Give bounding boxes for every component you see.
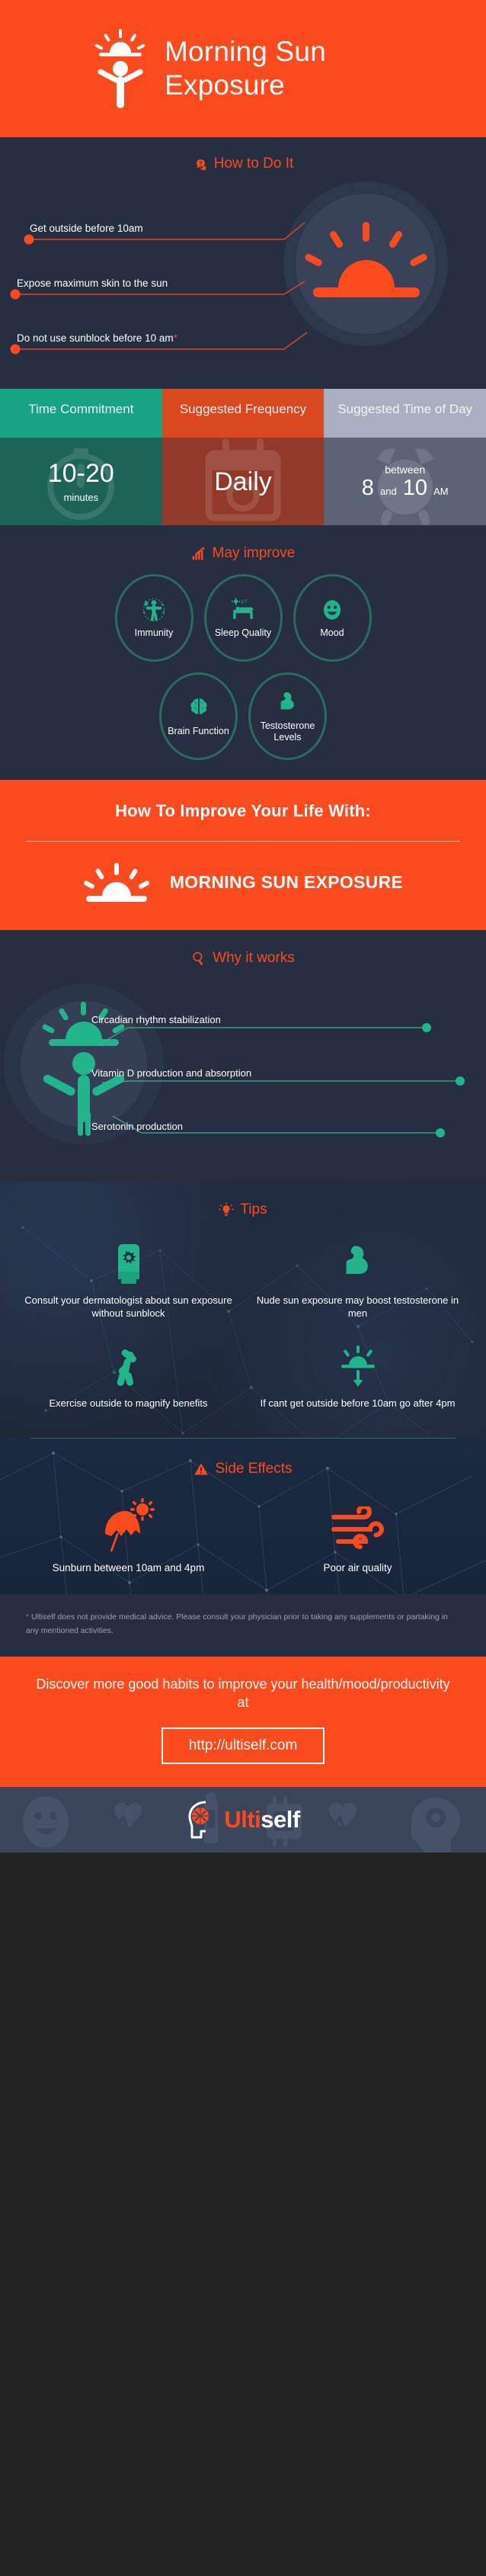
- tip-text: If cant get outside before 10am go after…: [248, 1397, 468, 1410]
- footer: Ultiself: [0, 1787, 486, 1853]
- sunrise-icon: [83, 861, 150, 904]
- disclaimer-section: * Ultiself does not provide medical advi…: [0, 1594, 486, 1657]
- wind-icon: [331, 1506, 385, 1552]
- side-effects-section: Side Effects: [0, 1438, 486, 1595]
- tip-item[interactable]: Exercise outside to magnify benefits: [14, 1335, 243, 1421]
- immunity-person-icon: [140, 597, 168, 623]
- tip-icon-wrap: [248, 1240, 468, 1287]
- tips-grid: Consult your dermatologist about sun exp…: [0, 1226, 486, 1421]
- ultiself-wordmark: Ultiself: [224, 1806, 299, 1833]
- between-label: between: [362, 464, 449, 476]
- side-effect-text: Sunburn between 10am and 4pm: [14, 1561, 243, 1575]
- lightbulb-icon: [219, 1202, 234, 1217]
- divider: [26, 841, 460, 842]
- tips-heading: Tips: [0, 1182, 486, 1226]
- svg-text:z: z: [241, 598, 244, 605]
- how-to-section: How to Do It: [0, 137, 486, 389]
- ultiself-logo[interactable]: Ultiself: [186, 1801, 299, 1839]
- summary-table: Time Commitment 10-20 minutes Suggested …: [0, 389, 486, 525]
- beach-umbrella-sun-icon: [99, 1497, 158, 1552]
- may-improve-section: May improve Immunit: [0, 525, 486, 780]
- side-effect-item[interactable]: Poor air quality: [243, 1497, 472, 1575]
- why-heading-label: Why it works: [213, 950, 295, 967]
- benefit-label: Testosterone Levels: [251, 720, 325, 743]
- why-reason-3: Serotonin production: [91, 1121, 183, 1132]
- may-improve-heading-label: May improve: [213, 545, 296, 562]
- flexed-biceps-icon: [274, 690, 302, 716]
- column-header: Time Commitment: [0, 389, 162, 438]
- bar-chart-up-icon: [191, 546, 206, 561]
- may-improve-row-1: Immunity z z: [0, 569, 486, 662]
- brain-icon: [185, 695, 213, 721]
- tip-icon-wrap: [248, 1343, 468, 1390]
- smiley-face-icon: [318, 597, 346, 623]
- column-body: 10-20 minutes: [0, 438, 162, 525]
- time-of-day-value: between 8 and 10 AM: [362, 464, 449, 499]
- brand-name: MORNING SUN EXPOSURE: [170, 872, 403, 893]
- sunscreen-tube-icon: [111, 1241, 146, 1285]
- footnote-star: *: [174, 332, 177, 344]
- tip-text: Nude sun exposure may boost testosterone…: [248, 1294, 468, 1320]
- column-value: 10-20: [48, 460, 114, 486]
- person-sunrise-icon: [93, 27, 148, 110]
- how-to-step-2: Expose maximum skin to the sun: [17, 277, 168, 289]
- tip-item[interactable]: Consult your dermatologist about sun exp…: [14, 1232, 243, 1330]
- why-heading: Why it works: [0, 930, 486, 974]
- column-header: Suggested Time of Day: [324, 389, 486, 438]
- tips-heading-label: Tips: [240, 1201, 267, 1218]
- table-column-frequency: Suggested Frequency Daily: [162, 389, 325, 525]
- may-improve-row-2: Brain Function Testosterone Levels: [0, 668, 486, 760]
- infographic-page: Morning Sun Exposure How to Do It: [0, 0, 486, 1853]
- benefit-label: Brain Function: [168, 726, 229, 737]
- side-effects-grid: Sunburn between 10am and 4pm Poor air qu…: [0, 1485, 486, 1575]
- benefit-label: Immunity: [135, 627, 174, 639]
- tip-icon-wrap: [18, 1343, 238, 1390]
- side-effects-heading: Side Effects: [0, 1438, 486, 1485]
- why-diagram: Circadian rhythm stabilization Vitamin D…: [0, 974, 486, 1161]
- time-range: 8 and 10 AM: [362, 476, 449, 500]
- brand-row: MORNING SUN EXPOSURE: [26, 861, 460, 904]
- sunset-arrow-down-icon: [338, 1344, 378, 1388]
- side-effect-item[interactable]: Sunburn between 10am and 4pm: [14, 1497, 243, 1575]
- warning-triangle-icon: [193, 1461, 209, 1477]
- stretching-person-icon: [110, 1345, 147, 1387]
- brain-head-icon: [186, 1801, 216, 1839]
- benefit-immunity[interactable]: Immunity: [115, 574, 193, 662]
- page-title: Morning Sun Exposure: [165, 35, 393, 101]
- cta-headline: Discover more good habits to improve you…: [30, 1675, 456, 1712]
- brand-banner: How To Improve Your Life With: MORNING S…: [0, 780, 486, 930]
- column-subvalue: minutes: [64, 492, 99, 503]
- column-header: Suggested Frequency: [162, 389, 325, 438]
- benefit-sleep-quality[interactable]: z z Sleep Quality: [204, 574, 283, 662]
- column-body: between 8 and 10 AM: [324, 438, 486, 525]
- how-to-diagram: Get outside before 10am Expose maximum s…: [0, 180, 486, 363]
- question-bubble-icon: [193, 156, 208, 172]
- side-effect-icon-wrap: [14, 1497, 243, 1552]
- side-effect-icon-wrap: [243, 1497, 472, 1552]
- brand-kicker: How To Improve Your Life With:: [26, 801, 460, 821]
- column-body: Daily: [162, 438, 325, 525]
- tips-section: Tips Consult your dermatologist about su…: [0, 1182, 486, 1438]
- side-effects-heading-label: Side Effects: [215, 1461, 292, 1477]
- benefit-mood[interactable]: Mood: [293, 574, 372, 662]
- tip-item[interactable]: If cant get outside before 10am go after…: [243, 1335, 472, 1421]
- table-column-time-of-day: Suggested Time of Day between 8 and 10 A…: [324, 389, 486, 525]
- tip-icon-wrap: [18, 1240, 238, 1287]
- tip-text: Consult your dermatologist about sun exp…: [18, 1294, 238, 1320]
- bed-sleep-icon: z z: [229, 597, 257, 623]
- side-effect-text: Poor air quality: [243, 1561, 472, 1575]
- why-reason-2: Vitamin D production and absorption: [91, 1067, 251, 1079]
- column-value: Daily: [214, 469, 272, 495]
- cta-section: Discover more good habits to improve you…: [0, 1657, 486, 1787]
- how-to-step-1: Get outside before 10am: [30, 223, 143, 234]
- how-to-heading-label: How to Do It: [214, 156, 294, 172]
- disclaimer-text: * Ultiself does not provide medical advi…: [26, 1611, 460, 1638]
- how-to-heading: How to Do It: [0, 137, 486, 180]
- flexed-biceps-icon: [337, 1242, 379, 1285]
- how-to-step-3: Do not use sunblock before 10 am*: [17, 332, 177, 344]
- why-reason-1: Circadian rhythm stabilization: [91, 1014, 221, 1025]
- magnifier-icon: [191, 951, 206, 966]
- benefit-testosterone-levels[interactable]: Testosterone Levels: [248, 672, 327, 760]
- hero-banner: Morning Sun Exposure: [0, 0, 486, 137]
- svg-text:z: z: [245, 599, 248, 604]
- benefit-label: Mood: [320, 627, 344, 639]
- benefit-label: Sleep Quality: [215, 627, 271, 639]
- may-improve-heading: May improve: [0, 525, 486, 569]
- table-column-time-commitment: Time Commitment 10-20 minutes: [0, 389, 162, 525]
- benefit-brain-function[interactable]: Brain Function: [159, 672, 238, 760]
- why-it-works-section: Why it works: [0, 930, 486, 1182]
- tip-text: Exercise outside to magnify benefits: [18, 1397, 238, 1410]
- website-button[interactable]: http://ultiself.com: [161, 1727, 325, 1764]
- tip-item[interactable]: Nude sun exposure may boost testosterone…: [243, 1232, 472, 1330]
